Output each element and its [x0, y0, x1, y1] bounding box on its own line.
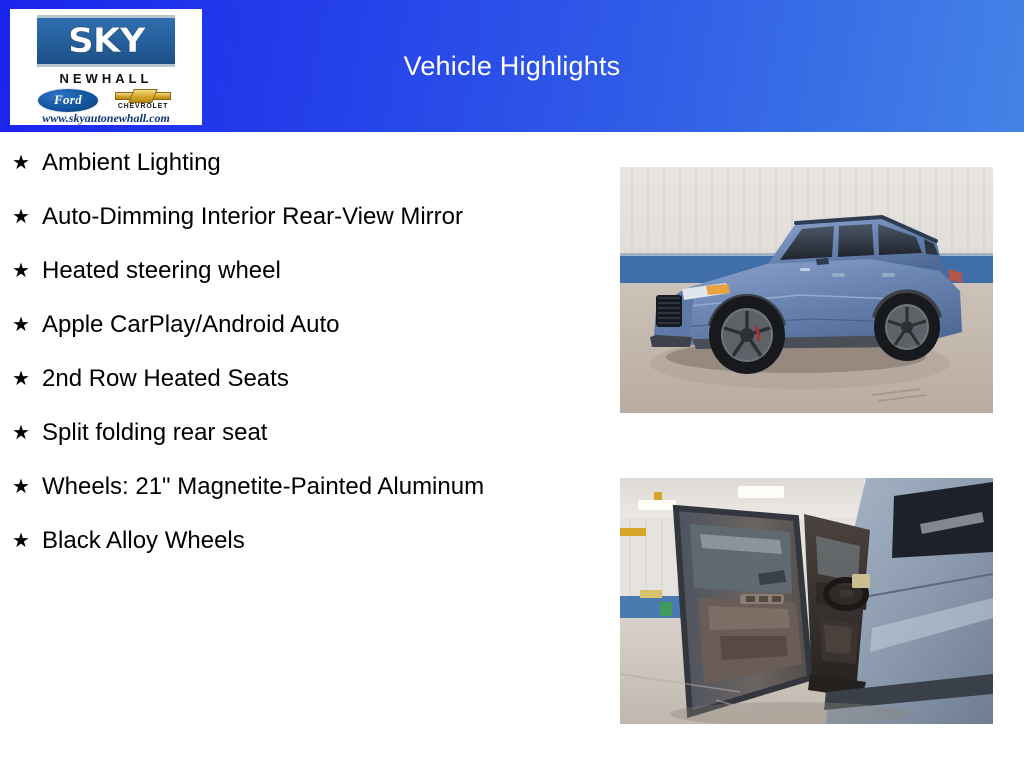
vehicle-photo-interior[interactable] — [620, 478, 993, 724]
chevrolet-bowtie-icon: CHEVROLET — [111, 87, 175, 113]
bowtie-shape — [115, 89, 171, 103]
vehicle-highlights-list: ★ Ambient Lighting ★ Auto-Dimming Interi… — [12, 146, 572, 578]
list-item-label: Apple CarPlay/Android Auto — [42, 308, 572, 342]
ford-oval-icon: Ford — [37, 88, 99, 113]
list-item: ★ Split folding rear seat — [12, 416, 572, 450]
dealer-logo[interactable]: SKY NEWHALL Ford CHEVROLET www.skyautone… — [10, 9, 202, 125]
star-bullet-icon: ★ — [12, 308, 42, 342]
list-item-label: Wheels: 21" Magnetite-Painted Aluminum — [42, 470, 572, 504]
vehicle-photo-exterior[interactable] — [620, 167, 993, 413]
star-bullet-icon: ★ — [12, 470, 42, 504]
list-item-label: Black Alloy Wheels — [42, 524, 572, 558]
star-bullet-icon: ★ — [12, 416, 42, 450]
sky-banner: SKY — [37, 15, 175, 67]
star-bullet-icon: ★ — [12, 200, 42, 234]
list-item: ★ Wheels: 21" Magnetite-Painted Aluminum — [12, 470, 572, 504]
list-item-label: Auto-Dimming Interior Rear-View Mirror — [42, 200, 572, 234]
sky-wordmark: SKY — [68, 24, 145, 58]
dealer-location-label: NEWHALL — [10, 71, 202, 86]
list-item: ★ Black Alloy Wheels — [12, 524, 572, 558]
dealer-website-url[interactable]: www.skyautonewhall.com — [10, 111, 202, 125]
star-bullet-icon: ★ — [12, 254, 42, 288]
star-bullet-icon: ★ — [12, 362, 42, 396]
ford-label: Ford — [54, 92, 82, 108]
list-item-label: Ambient Lighting — [42, 146, 572, 180]
list-item-label: Heated steering wheel — [42, 254, 572, 288]
list-item: ★ 2nd Row Heated Seats — [12, 362, 572, 396]
list-item: ★ Apple CarPlay/Android Auto — [12, 308, 572, 342]
interior-illustration — [620, 478, 993, 724]
chevrolet-label: CHEVROLET — [111, 103, 175, 110]
list-item: ★ Ambient Lighting — [12, 146, 572, 180]
list-item-label: 2nd Row Heated Seats — [42, 362, 572, 396]
star-bullet-icon: ★ — [12, 146, 42, 180]
list-item: ★ Auto-Dimming Interior Rear-View Mirror — [12, 200, 572, 234]
exterior-illustration — [620, 167, 993, 413]
brand-logos: Ford CHEVROLET — [10, 87, 202, 113]
list-item-label: Split folding rear seat — [42, 416, 572, 450]
star-bullet-icon: ★ — [12, 524, 42, 558]
list-item: ★ Heated steering wheel — [12, 254, 572, 288]
